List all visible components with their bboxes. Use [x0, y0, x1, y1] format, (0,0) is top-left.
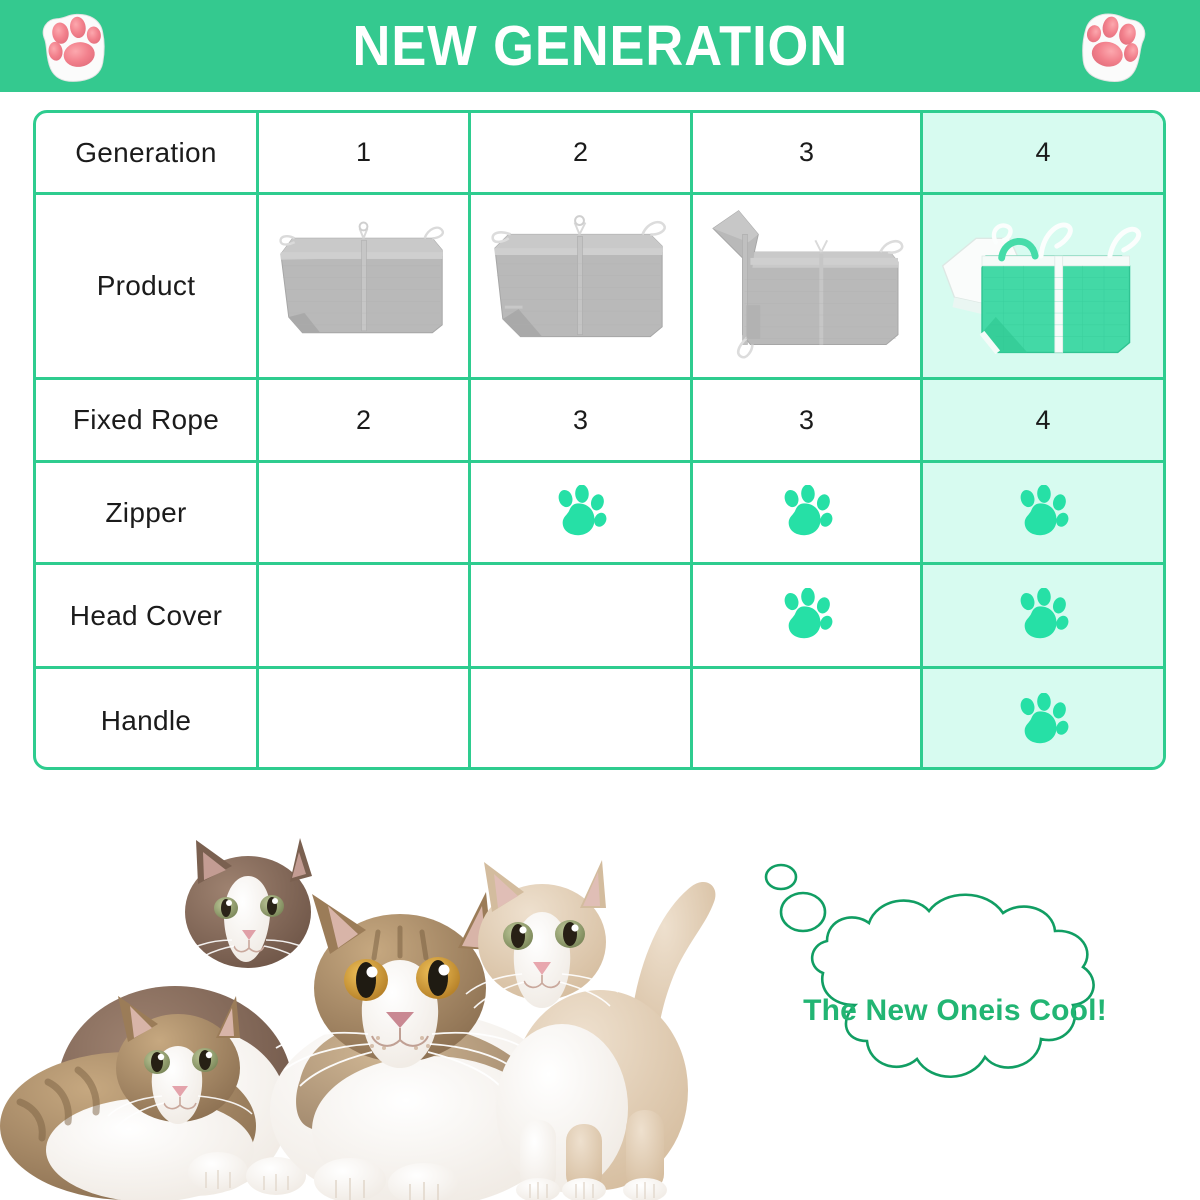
- product-cell-gen3: [693, 195, 923, 380]
- column-header-label: 4: [1035, 137, 1050, 168]
- row-label: Fixed Rope: [73, 404, 219, 436]
- gray-mesh-bag-gen1-icon: [259, 195, 468, 377]
- column-header-label: 1: [356, 137, 371, 168]
- paw-check-icon: [1014, 693, 1072, 749]
- zipper-cell-gen3: [693, 463, 923, 565]
- handle-cell-gen4: [923, 669, 1163, 770]
- table-header-cell-gen3: 3: [693, 113, 923, 195]
- row-label-handle: Handle: [36, 669, 259, 770]
- paw-check-icon: [552, 485, 610, 541]
- header-banner: NEW GENERATION: [0, 0, 1200, 92]
- gray-mesh-bag-gen3-icon: [693, 195, 920, 377]
- cell-value: 4: [1035, 405, 1050, 436]
- cat-paw-icon: [28, 1, 121, 94]
- fixed-rope-cell-gen1: 2: [259, 380, 471, 463]
- cell-value: 3: [799, 405, 814, 436]
- table-header-cell-gen2: 2: [471, 113, 693, 195]
- column-header-label: 2: [573, 137, 588, 168]
- thought-bubble: The New Oneis Cool!: [735, 855, 1175, 1155]
- paw-check-icon: [1014, 588, 1072, 644]
- green-mesh-bag-gen4-icon: [923, 195, 1163, 377]
- row-label: Product: [97, 270, 196, 302]
- bubble-trail-large-circle: [781, 893, 825, 931]
- product-cell-gen1: [259, 195, 471, 380]
- generation-comparison-table: Generation 1 2 3 4 Product: [33, 110, 1166, 770]
- cat-paw-icon: [1064, 0, 1161, 96]
- fixed-rope-cell-gen4: 4: [923, 380, 1163, 463]
- row-label: Head Cover: [70, 600, 222, 632]
- product-cell-gen2: [471, 195, 693, 380]
- table-header-cell-generation: Generation: [36, 113, 259, 195]
- page-title: NEW GENERATION: [352, 18, 848, 75]
- zipper-cell-gen1: [259, 463, 471, 565]
- row-label-head-cover: Head Cover: [36, 565, 259, 669]
- zipper-cell-gen4: [923, 463, 1163, 565]
- product-cell-gen4: [923, 195, 1163, 380]
- paw-check-icon: [778, 588, 836, 644]
- zipper-cell-gen2: [471, 463, 693, 565]
- paw-check-icon: [778, 485, 836, 541]
- row-label-product: Product: [36, 195, 259, 380]
- handle-cell-gen3: [693, 669, 923, 770]
- head-cover-cell-gen1: [259, 565, 471, 669]
- cell-value: 2: [356, 405, 371, 436]
- row-label-zipper: Zipper: [36, 463, 259, 565]
- row-label: Zipper: [105, 497, 186, 529]
- table-header-cell-gen1: 1: [259, 113, 471, 195]
- fixed-rope-cell-gen2: 3: [471, 380, 693, 463]
- column-header-label: 3: [799, 137, 814, 168]
- gray-mesh-bag-gen2-icon: [471, 195, 690, 377]
- bubble-trail-small-circle: [766, 865, 796, 889]
- paw-check-icon: [1014, 485, 1072, 541]
- column-header-label: Generation: [75, 137, 217, 169]
- head-cover-cell-gen2: [471, 565, 693, 669]
- table-header-cell-gen4: 4: [923, 113, 1163, 195]
- fixed-rope-cell-gen3: 3: [693, 380, 923, 463]
- head-cover-cell-gen4: [923, 565, 1163, 669]
- bubble-cloud-outline: [812, 895, 1093, 1077]
- row-label: Handle: [101, 705, 192, 737]
- head-cover-cell-gen3: [693, 565, 923, 669]
- row-label-fixed-rope: Fixed Rope: [36, 380, 259, 463]
- handle-cell-gen2: [471, 669, 693, 770]
- cell-value: 3: [573, 405, 588, 436]
- handle-cell-gen1: [259, 669, 471, 770]
- cats-photo: [0, 790, 760, 1200]
